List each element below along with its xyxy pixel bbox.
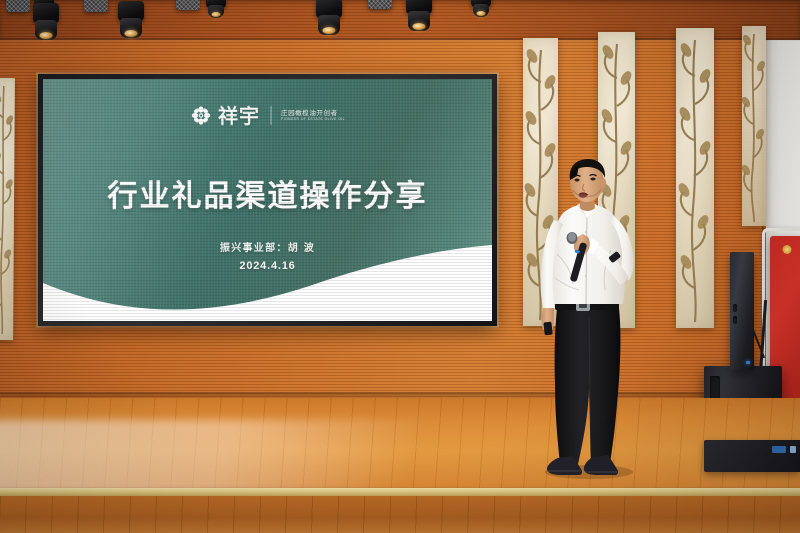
slide-surface: 祥宇 庄园橄榄油开创者 PIONEER OF ESTATE OLIVE OIL … bbox=[43, 79, 492, 321]
stage-light bbox=[118, 1, 144, 38]
console-screen bbox=[772, 446, 786, 453]
stage-light-mesh bbox=[84, 0, 108, 12]
slide-wave-graphic bbox=[43, 243, 492, 321]
floor-light-reflection bbox=[0, 420, 439, 495]
stage-light bbox=[406, 0, 432, 31]
olive-branch-motif-icon bbox=[0, 78, 15, 340]
presenter-figure bbox=[527, 158, 662, 480]
decorative-wall-panel bbox=[0, 78, 15, 340]
speaker-power-led bbox=[746, 361, 750, 364]
brand-lockup: 祥宇 庄园橄榄油开创者 PIONEER OF ESTATE OLIVE OIL bbox=[190, 105, 345, 126]
slide-title: 行业礼品渠道操作分享 bbox=[108, 171, 428, 215]
decorative-wall-panel bbox=[742, 26, 766, 226]
brand-tagline-cn: 庄园橄榄油开创者 bbox=[281, 110, 345, 117]
stage-light bbox=[471, 0, 491, 17]
olive-branch-motif-icon bbox=[742, 26, 766, 226]
stage-light-mesh bbox=[6, 0, 30, 12]
brand-divider bbox=[270, 106, 271, 125]
stage-light bbox=[33, 3, 59, 40]
presenter-person bbox=[527, 158, 662, 480]
olive-branch-motif-icon bbox=[676, 28, 714, 328]
decorative-wall-panel bbox=[676, 28, 714, 328]
stage-light bbox=[206, 0, 226, 18]
brand-tagline-en: PIONEER OF ESTATE OLIVE OIL bbox=[281, 118, 345, 121]
led-display-screen: 祥宇 庄园橄榄油开创者 PIONEER OF ESTATE OLIVE OIL … bbox=[38, 74, 497, 326]
brand-name: 祥宇 bbox=[218, 106, 260, 126]
stage-light bbox=[316, 0, 342, 35]
banner-emblem-icon bbox=[783, 245, 792, 254]
stage-light-mesh bbox=[176, 0, 200, 10]
flower-emblem-icon bbox=[190, 105, 211, 126]
speaker-port bbox=[733, 316, 737, 324]
console-indicator bbox=[790, 446, 796, 453]
foreground-floor bbox=[0, 496, 800, 533]
line-array-speaker bbox=[730, 252, 754, 370]
brand-tagline: 庄园橄榄油开创者 PIONEER OF ESTATE OLIVE OIL bbox=[281, 110, 345, 121]
av-console bbox=[704, 440, 800, 472]
photo-scene: 祥宇 庄园橄榄油开创者 PIONEER OF ESTATE OLIVE OIL … bbox=[0, 0, 800, 533]
presentation-remote bbox=[543, 322, 552, 336]
speaker-port bbox=[733, 304, 737, 312]
stage-light-mesh bbox=[368, 0, 392, 9]
